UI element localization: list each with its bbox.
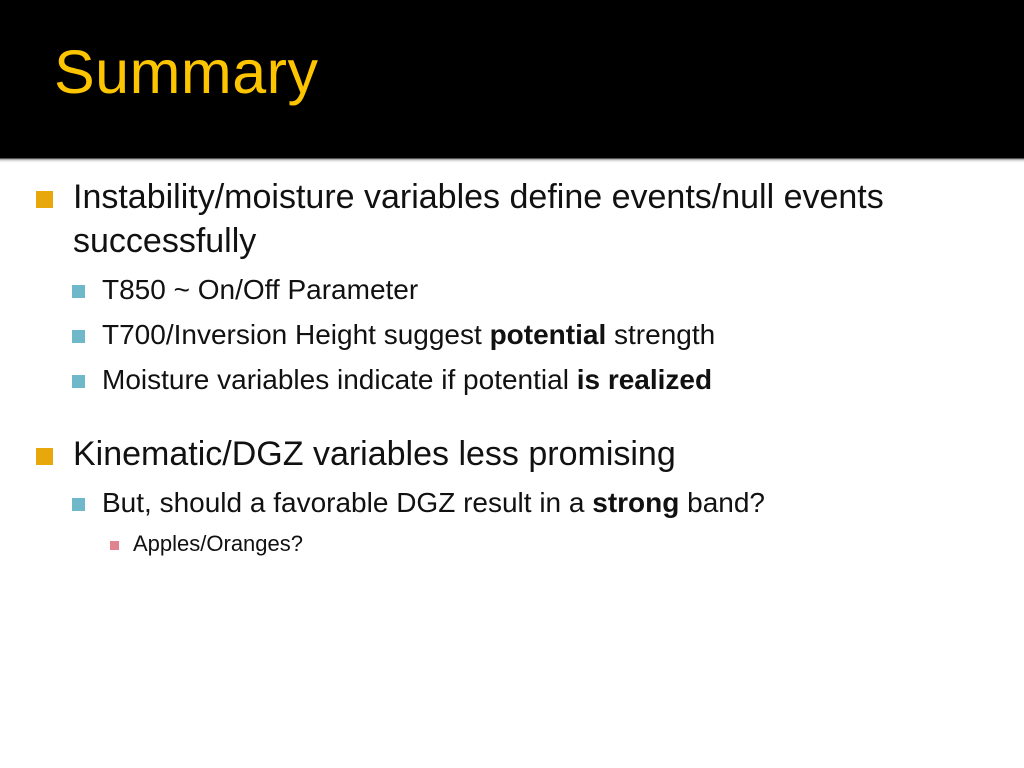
bullet-level1-kinematic-text: Kinematic/DGZ variables less promising — [73, 432, 676, 476]
body-top-gap — [0, 163, 1024, 175]
slide-body: Instability/moisture variables define ev… — [0, 163, 1024, 768]
orange-square-bullet-icon — [36, 191, 53, 208]
bullet-level2-t850-text: T850 ~ On/Off Parameter — [102, 272, 418, 308]
bullet-level2-t700-text-bold: potential — [490, 319, 607, 350]
teal-square-bullet-icon — [72, 498, 85, 511]
bullet-level2-t700: T700/Inversion Height suggest potential … — [0, 317, 1024, 353]
teal-square-bullet-icon — [72, 375, 85, 388]
bullet-level2-t700-text-b: strength — [606, 319, 715, 350]
bullet-level2-dgz-question: But, should a favorable DGZ result in a … — [0, 485, 1024, 521]
bullet-level2-moisture-text-a: Moisture variables indicate if potential — [102, 364, 577, 395]
gap-after-bullet6 — [0, 521, 1024, 530]
bullet-level2-moisture-text-bold: is realized — [577, 364, 712, 395]
bullet-level1-instability: Instability/moisture variables define ev… — [0, 175, 1024, 263]
gap-after-bullet2 — [0, 308, 1024, 317]
orange-square-bullet-icon — [36, 448, 53, 465]
bullet-level2-t700-text: T700/Inversion Height suggest potential … — [102, 317, 715, 353]
rose-square-bullet-icon — [110, 541, 119, 550]
gap-after-bullet5 — [0, 476, 1024, 485]
bullet-level2-dgz-question-text: But, should a favorable DGZ result in a … — [102, 485, 765, 521]
bullet-level2-dgz-question-text-a: But, should a favorable DGZ result in a — [102, 487, 592, 518]
bullet-level1-kinematic: Kinematic/DGZ variables less promising — [0, 432, 1024, 476]
presentation-slide: Summary Instability/moisture variables d… — [0, 0, 1024, 768]
slide-title: Summary — [54, 42, 318, 103]
bullet-level3-apples-oranges: Apples/Oranges? — [0, 530, 1024, 558]
bullet-level2-moisture-text: Moisture variables indicate if potential… — [102, 362, 712, 398]
bullet-level2-dgz-question-text-bold: strong — [592, 487, 679, 518]
bullet-level2-t850: T850 ~ On/Off Parameter — [0, 272, 1024, 308]
bullet-level1-instability-text: Instability/moisture variables define ev… — [73, 175, 973, 263]
bullet-level2-dgz-question-text-b: band? — [679, 487, 765, 518]
teal-square-bullet-icon — [72, 285, 85, 298]
bullet-group-spacer — [0, 398, 1024, 432]
bullet-level2-t700-text-a: T700/Inversion Height suggest — [102, 319, 490, 350]
gap-after-bullet1 — [0, 263, 1024, 272]
teal-square-bullet-icon — [72, 330, 85, 343]
gap-after-bullet3 — [0, 353, 1024, 362]
bullet-level2-moisture: Moisture variables indicate if potential… — [0, 362, 1024, 398]
bullet-level3-apples-oranges-text: Apples/Oranges? — [133, 530, 303, 558]
slide-title-band: Summary — [0, 0, 1024, 158]
